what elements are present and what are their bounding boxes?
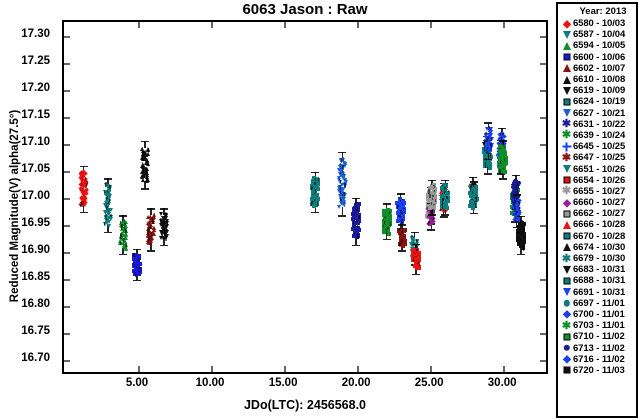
legend-entry-label: 6697 - 11/01 — [573, 298, 625, 309]
error-bar-cap — [133, 249, 141, 250]
error-bar-cap — [147, 208, 155, 209]
point-error-tick — [485, 163, 486, 168]
square-marker-icon — [560, 208, 573, 219]
data-point — [503, 170, 507, 174]
point-error-tick — [81, 202, 82, 207]
legend-entry-label: 6674 - 10/30 — [573, 242, 625, 253]
data-point — [387, 232, 391, 236]
legend-entry[interactable]: 6645 - 10/25 — [558, 141, 636, 152]
x-tick-mark — [211, 366, 213, 372]
data-point — [162, 237, 166, 241]
plus-marker-icon — [560, 141, 573, 152]
legend-entry[interactable]: 6674 - 10/30 — [558, 242, 636, 253]
data-point — [124, 247, 128, 251]
error-bar-cap — [517, 254, 525, 255]
error-bar-cap — [141, 188, 149, 189]
legend-entry-label: 6587 - 10/04 — [573, 29, 625, 40]
error-bar-cap — [383, 239, 391, 240]
legend-entry[interactable]: 6654 - 10/26 — [558, 175, 636, 186]
error-bar-cap — [412, 244, 420, 245]
data-point — [488, 166, 492, 170]
y-tick-mark — [64, 63, 70, 65]
error-bar-cap — [141, 141, 149, 142]
data-point — [107, 224, 111, 228]
legend-entry[interactable]: 6624 - 10/19 — [558, 96, 636, 107]
diamond-marker-icon — [560, 309, 573, 320]
legend-entry[interactable]: 6610 - 10/08 — [558, 74, 636, 85]
x-tick-label: 15.00 — [257, 377, 309, 389]
y-tick-mark — [64, 225, 70, 227]
error-bar-cap — [397, 193, 405, 194]
y-tick-label: 17.25 — [21, 55, 50, 67]
y-tick-mark-right — [540, 171, 546, 173]
x-tick-label: 5.00 — [111, 377, 163, 389]
legend-entry-label: 6703 - 11/01 — [573, 320, 625, 331]
y-tick-mark-right — [540, 225, 546, 227]
legend-entry[interactable]: 6697 - 11/01 — [558, 298, 636, 309]
legend-entry[interactable]: 6660 - 10/27 — [558, 197, 636, 208]
legend-entry-label: 6631 - 10/22 — [573, 119, 625, 130]
legend-entry[interactable]: 6587 - 10/04 — [558, 29, 636, 40]
y-tick-label: 16.90 — [21, 244, 50, 256]
error-bar-cap — [119, 254, 127, 255]
legend-entry[interactable]: 6651 - 10/26 — [558, 163, 636, 174]
point-error-tick — [104, 222, 105, 227]
x-tick-label: 30.00 — [476, 377, 528, 389]
error-bar-cap — [338, 152, 346, 153]
y-tick-mark-right — [540, 252, 546, 254]
y-tick-mark-right — [540, 360, 546, 362]
legend-entry-label: 6600 - 10/06 — [573, 52, 625, 63]
error-bar-cap — [133, 280, 141, 281]
point-error-tick — [442, 205, 443, 210]
data-point — [471, 206, 475, 210]
error-bar-cap — [512, 175, 520, 176]
square-marker-icon — [560, 331, 573, 342]
data-point — [486, 149, 490, 153]
error-bar-cap — [398, 224, 406, 225]
data-point — [312, 204, 316, 208]
error-bar-cap — [427, 229, 435, 230]
error-bar-cap — [160, 208, 168, 209]
legend-entry[interactable]: 6662 - 10/27 — [558, 208, 636, 219]
triangle-down-marker-icon — [560, 108, 573, 119]
star-marker-icon: ✱ — [560, 186, 573, 197]
error-bar-cap — [104, 232, 112, 233]
error-bar — [342, 207, 343, 215]
point-error-tick — [499, 169, 500, 174]
legend-entry[interactable]: 6580 - 10/03 — [558, 18, 636, 29]
legend-entry[interactable]: 6600 - 10/06 — [558, 52, 636, 63]
x-tick-mark-top — [430, 22, 432, 28]
y-tick-label: 17.05 — [21, 163, 50, 175]
legend-entry-label: 6662 - 10/27 — [573, 208, 625, 219]
circle-marker-icon — [560, 343, 573, 354]
star-marker-icon: ✱ — [560, 130, 573, 141]
y-tick-mark — [64, 171, 70, 173]
legend-entry-label: 6647 - 10/25 — [573, 152, 625, 163]
legend-entry[interactable]: 6627 - 10/21 — [558, 108, 636, 119]
error-bar-cap — [311, 212, 319, 213]
y-axis-tick-labels: 16.7016.7516.8016.8516.9016.9517.0017.05… — [0, 20, 58, 374]
error-bar-cap — [441, 180, 449, 181]
x-tick-label: 20.00 — [330, 377, 382, 389]
legend-entry[interactable]: ✱6631 - 10/22 — [558, 119, 636, 130]
error-bar-cap — [147, 250, 155, 251]
error-bar-cap — [104, 178, 112, 179]
square-marker-icon — [560, 231, 573, 242]
point-error-tick — [146, 178, 147, 183]
error-bar-cap — [383, 203, 391, 204]
legend-entry-label: 6651 - 10/26 — [573, 164, 625, 175]
legend-entry-label: 6691 - 10/31 — [573, 287, 625, 298]
legend-entry-label: 6660 - 10/27 — [573, 197, 625, 208]
y-tick-mark-right — [540, 144, 546, 146]
legend-entry[interactable]: ✱6647 - 10/25 — [558, 152, 636, 163]
y-tick-label: 16.70 — [21, 352, 50, 364]
legend-entry-label: 6624 - 10/19 — [573, 96, 625, 107]
x-tick-label: 10.00 — [184, 377, 236, 389]
plot-data-area — [64, 22, 546, 372]
point-error-tick — [344, 183, 345, 188]
y-tick-mark-right — [540, 90, 546, 92]
y-tick-label: 17.20 — [21, 82, 50, 94]
point-error-tick — [357, 234, 358, 239]
legend-entry-label: 6666 - 10/28 — [573, 219, 625, 230]
legend-entry[interactable]: 6619 - 10/09 — [558, 85, 636, 96]
error-bar-cap — [311, 172, 319, 173]
x-tick-mark-top — [357, 22, 359, 28]
error-bar-cap — [469, 177, 477, 178]
data-point — [401, 244, 405, 248]
star-marker-icon: ✱ — [560, 320, 573, 331]
triangle-up-marker-icon — [560, 242, 573, 253]
error-bar-cap — [80, 166, 88, 167]
triangle-up-marker-icon — [560, 63, 573, 74]
legend-entry[interactable]: 6666 - 10/28 — [558, 219, 636, 230]
error-bar-cap — [412, 274, 420, 275]
y-tick-mark — [64, 252, 70, 254]
legend-entry-label: 6580 - 10/03 — [573, 18, 625, 29]
x-tick-mark — [503, 366, 505, 372]
legend-entry[interactable]: 6602 - 10/07 — [558, 63, 636, 74]
error-bar-cap — [428, 214, 436, 215]
triangle-up-marker-icon — [560, 219, 573, 230]
y-tick-label: 17.10 — [21, 136, 50, 148]
error-bar-cap — [498, 128, 506, 129]
y-tick-label: 17.15 — [21, 109, 50, 121]
triangle-down-marker-icon — [560, 287, 573, 298]
square-marker-icon — [560, 175, 573, 186]
data-point — [445, 206, 449, 210]
error-bar-cap — [440, 216, 448, 217]
error-bar-cap — [513, 194, 521, 195]
data-point — [137, 272, 141, 276]
y-tick-mark-right — [540, 333, 546, 335]
legend-entry[interactable]: 6716 - 11/02 — [558, 354, 636, 365]
error-bar-cap — [517, 216, 525, 217]
error-bar-cap — [119, 215, 127, 216]
data-point — [141, 178, 145, 182]
legend-entry[interactable]: ✱6655 - 10/27 — [558, 186, 636, 197]
error-bar-cap — [411, 232, 419, 233]
y-tick-mark — [64, 36, 70, 38]
y-tick-mark — [64, 90, 70, 92]
legend-entry-label: 6654 - 10/26 — [573, 175, 625, 186]
data-point — [337, 205, 341, 209]
square-marker-icon — [560, 275, 573, 286]
triangle-down-marker-icon — [560, 85, 573, 96]
page-title: 6063 Jason : Raw — [62, 1, 548, 18]
y-tick-label: 16.75 — [21, 325, 50, 337]
legend-entry-label: 6610 - 10/08 — [573, 74, 625, 85]
y-tick-mark-right — [540, 279, 546, 281]
error-bar-cap — [484, 122, 492, 123]
diamond-marker-icon — [560, 354, 573, 365]
y-tick-mark — [64, 279, 70, 281]
x-tick-mark — [138, 366, 140, 372]
legend-entry-label: 6716 - 11/02 — [573, 354, 625, 365]
y-tick-mark-right — [540, 63, 546, 65]
point-error-tick — [135, 272, 136, 277]
diamond-marker-icon — [560, 18, 573, 29]
legend-entry-label: 6670 - 10/28 — [573, 231, 625, 242]
triangle-down-marker-icon — [560, 264, 573, 275]
data-point — [342, 203, 346, 207]
plot-frame — [62, 20, 548, 374]
legend-entry-label: 6720 - 11/03 — [573, 365, 625, 376]
x-tick-label: 25.00 — [403, 377, 455, 389]
y-tick-mark-right — [540, 36, 546, 38]
error-bar-cap — [80, 212, 88, 213]
data-point — [146, 240, 150, 244]
plot-screenshot: 6063 Jason : Raw Reduced Magnitude(V) al… — [0, 0, 640, 420]
legend-entry-label: 6683 - 10/31 — [573, 264, 625, 275]
data-point — [417, 266, 421, 270]
legend-entry-label: 6713 - 11/02 — [573, 343, 625, 354]
error-bar-cap — [470, 213, 478, 214]
legend-entry-label: 6619 - 10/09 — [573, 85, 625, 96]
x-tick-mark — [284, 366, 286, 372]
error-bar-cap — [470, 181, 478, 182]
legend-entry[interactable]: 6700 - 11/01 — [558, 309, 636, 320]
legend-entry-label: 6655 - 10/27 — [573, 186, 625, 197]
error-bar-cap — [352, 198, 360, 199]
legend-entry[interactable]: 6683 - 10/31 — [558, 264, 636, 275]
triangle-up-marker-icon — [560, 40, 573, 51]
y-tick-mark — [64, 117, 70, 119]
diamond-marker-icon — [560, 197, 573, 208]
x-axis-tick-labels: 5.0010.0015.0020.0025.0030.00 — [62, 376, 548, 392]
legend-entry-label: 6594 - 10/05 — [573, 40, 625, 51]
y-tick-label: 16.95 — [21, 217, 50, 229]
y-tick-mark — [64, 144, 70, 146]
square-marker-icon — [560, 96, 573, 107]
y-tick-label: 17.00 — [21, 190, 50, 202]
y-tick-mark — [64, 360, 70, 362]
triangle-down-marker-icon — [560, 29, 573, 40]
triangle-down-marker-icon — [560, 164, 573, 175]
legend-entry[interactable]: ✱6639 - 10/24 — [558, 130, 636, 141]
y-tick-mark — [64, 198, 70, 200]
x-tick-mark — [357, 366, 359, 372]
point-error-tick — [523, 246, 524, 251]
x-tick-mark-top — [211, 22, 213, 28]
star-marker-icon: ✱ — [560, 119, 573, 130]
legend-entry-label: 6700 - 11/01 — [573, 309, 625, 320]
error-bar-cap — [499, 178, 507, 179]
error-bar-cap — [484, 159, 492, 160]
star-marker-icon: ✱ — [560, 152, 573, 163]
legend-entry[interactable]: 6691 - 10/31 — [558, 287, 636, 298]
y-tick-label: 17.30 — [21, 28, 50, 40]
legend-entry[interactable]: 6670 - 10/28 — [558, 231, 636, 242]
triangle-up-marker-icon — [560, 74, 573, 85]
error-bar-cap — [160, 245, 168, 246]
error-bar-cap — [428, 180, 436, 181]
legend-entry[interactable]: ✱6703 - 11/01 — [558, 320, 636, 331]
x-axis-title: JDo(LTC): 2456568.0 — [62, 398, 548, 412]
square-marker-icon — [560, 52, 573, 63]
legend-entry-label: 6679 - 10/30 — [573, 253, 625, 264]
legend-entry-label: 6688 - 10/31 — [573, 275, 625, 286]
error-bar-cap — [338, 215, 346, 216]
legend-entry-label: 6627 - 10/21 — [573, 108, 625, 119]
y-tick-mark — [64, 333, 70, 335]
data-point — [431, 205, 435, 209]
star-marker-icon: ✱ — [560, 253, 573, 264]
legend-entry-label: 6639 - 10/24 — [573, 130, 625, 141]
data-point — [382, 230, 386, 234]
legend-entry[interactable]: ✱6679 - 10/30 — [558, 253, 636, 264]
legend-entry-label: 6602 - 10/07 — [573, 63, 625, 74]
x-tick-mark-top — [503, 22, 505, 28]
circle-marker-icon — [560, 298, 573, 309]
legend-entry[interactable]: 6710 - 11/02 — [558, 331, 636, 342]
y-tick-mark-right — [540, 117, 546, 119]
square-marker-icon — [560, 365, 573, 376]
error-bar-cap — [352, 245, 360, 246]
x-tick-mark-top — [284, 22, 286, 28]
x-tick-mark — [430, 366, 432, 372]
point-error-tick — [317, 201, 318, 206]
legend-entry[interactable]: 6688 - 10/31 — [558, 275, 636, 286]
legend-entry[interactable]: 6720 - 11/03 — [558, 365, 636, 376]
error-bar-cap — [484, 173, 492, 174]
y-tick-mark — [64, 306, 70, 308]
y-tick-label: 16.85 — [21, 271, 50, 283]
legend-entry[interactable]: 6713 - 11/02 — [558, 342, 636, 353]
legend-entry-list: 6580 - 10/036587 - 10/046594 - 10/056600… — [558, 18, 636, 376]
legend-entry-label: 6645 - 10/25 — [573, 141, 625, 152]
error-bar-cap — [441, 214, 449, 215]
x-tick-mark-top — [138, 22, 140, 28]
legend-entry[interactable]: 6594 - 10/05 — [558, 40, 636, 51]
legend-entry-label: 6710 - 11/02 — [573, 331, 625, 342]
y-tick-mark-right — [540, 198, 546, 200]
error-bar-cap — [398, 250, 406, 251]
y-tick-label: 16.80 — [21, 298, 50, 310]
error-bar-cap — [499, 140, 507, 141]
legend-title: Year: 2013 — [558, 5, 636, 18]
legend: Year: 2013 6580 - 10/036587 - 10/046594 … — [556, 2, 638, 418]
y-tick-mark-right — [540, 306, 546, 308]
